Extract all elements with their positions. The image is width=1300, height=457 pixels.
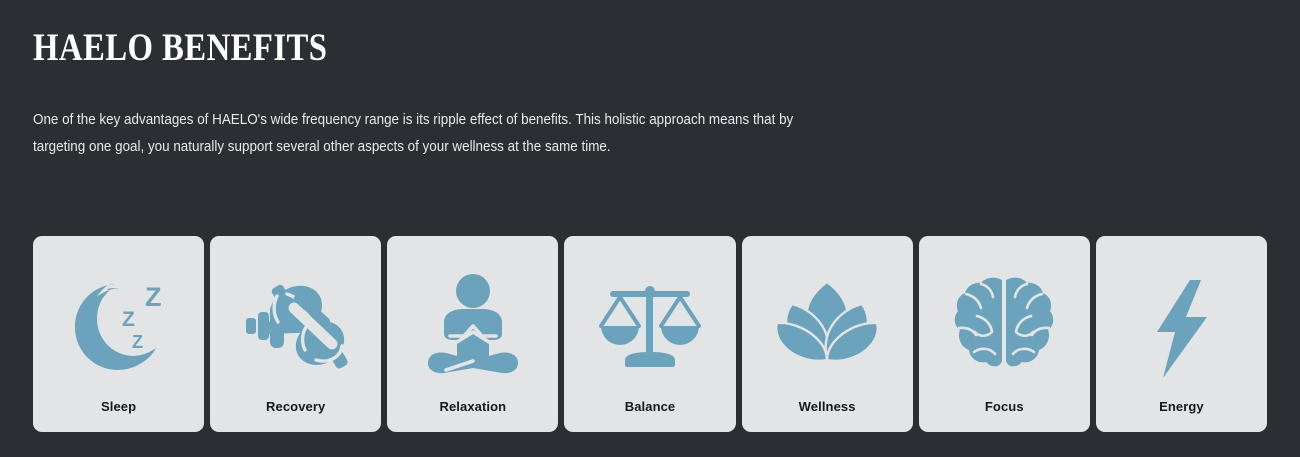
dumbbell-icon [237, 260, 355, 386]
lightning-bolt-icon [1122, 260, 1240, 386]
haelo-benefits-section: HAELO BENEFITS One of the key advantages… [0, 0, 1300, 457]
page-title: HAELO BENEFITS [33, 26, 327, 70]
benefit-card-label: Balance [564, 399, 735, 414]
benefit-card-sleep[interactable]: Z Z Z Sleep [33, 236, 204, 432]
svg-text:Z: Z [122, 308, 135, 331]
benefit-card-list: Z Z Z Sleep [33, 236, 1267, 432]
balance-scale-icon [591, 260, 709, 386]
section-intro-paragraph: One of the key advantages of HAELO's wid… [33, 106, 803, 160]
benefit-card-energy[interactable]: Energy [1096, 236, 1267, 432]
benefit-card-label: Relaxation [387, 399, 558, 414]
meditating-person-icon [414, 260, 532, 386]
benefit-card-balance[interactable]: Balance [564, 236, 735, 432]
benefit-card-label: Focus [919, 399, 1090, 414]
svg-text:Z: Z [132, 332, 143, 352]
svg-text:Z: Z [145, 282, 162, 312]
benefit-card-label: Energy [1096, 399, 1267, 414]
brain-icon [945, 260, 1063, 386]
benefit-card-focus[interactable]: Focus [919, 236, 1090, 432]
lotus-flower-icon [768, 260, 886, 386]
crescent-moon-zzz-icon: Z Z Z [60, 260, 178, 386]
benefit-card-recovery[interactable]: Recovery [210, 236, 381, 432]
benefit-card-label: Sleep [33, 399, 204, 414]
benefit-card-label: Wellness [742, 399, 913, 414]
benefit-card-label: Recovery [210, 399, 381, 414]
benefit-card-wellness[interactable]: Wellness [742, 236, 913, 432]
benefit-card-relaxation[interactable]: Relaxation [387, 236, 558, 432]
